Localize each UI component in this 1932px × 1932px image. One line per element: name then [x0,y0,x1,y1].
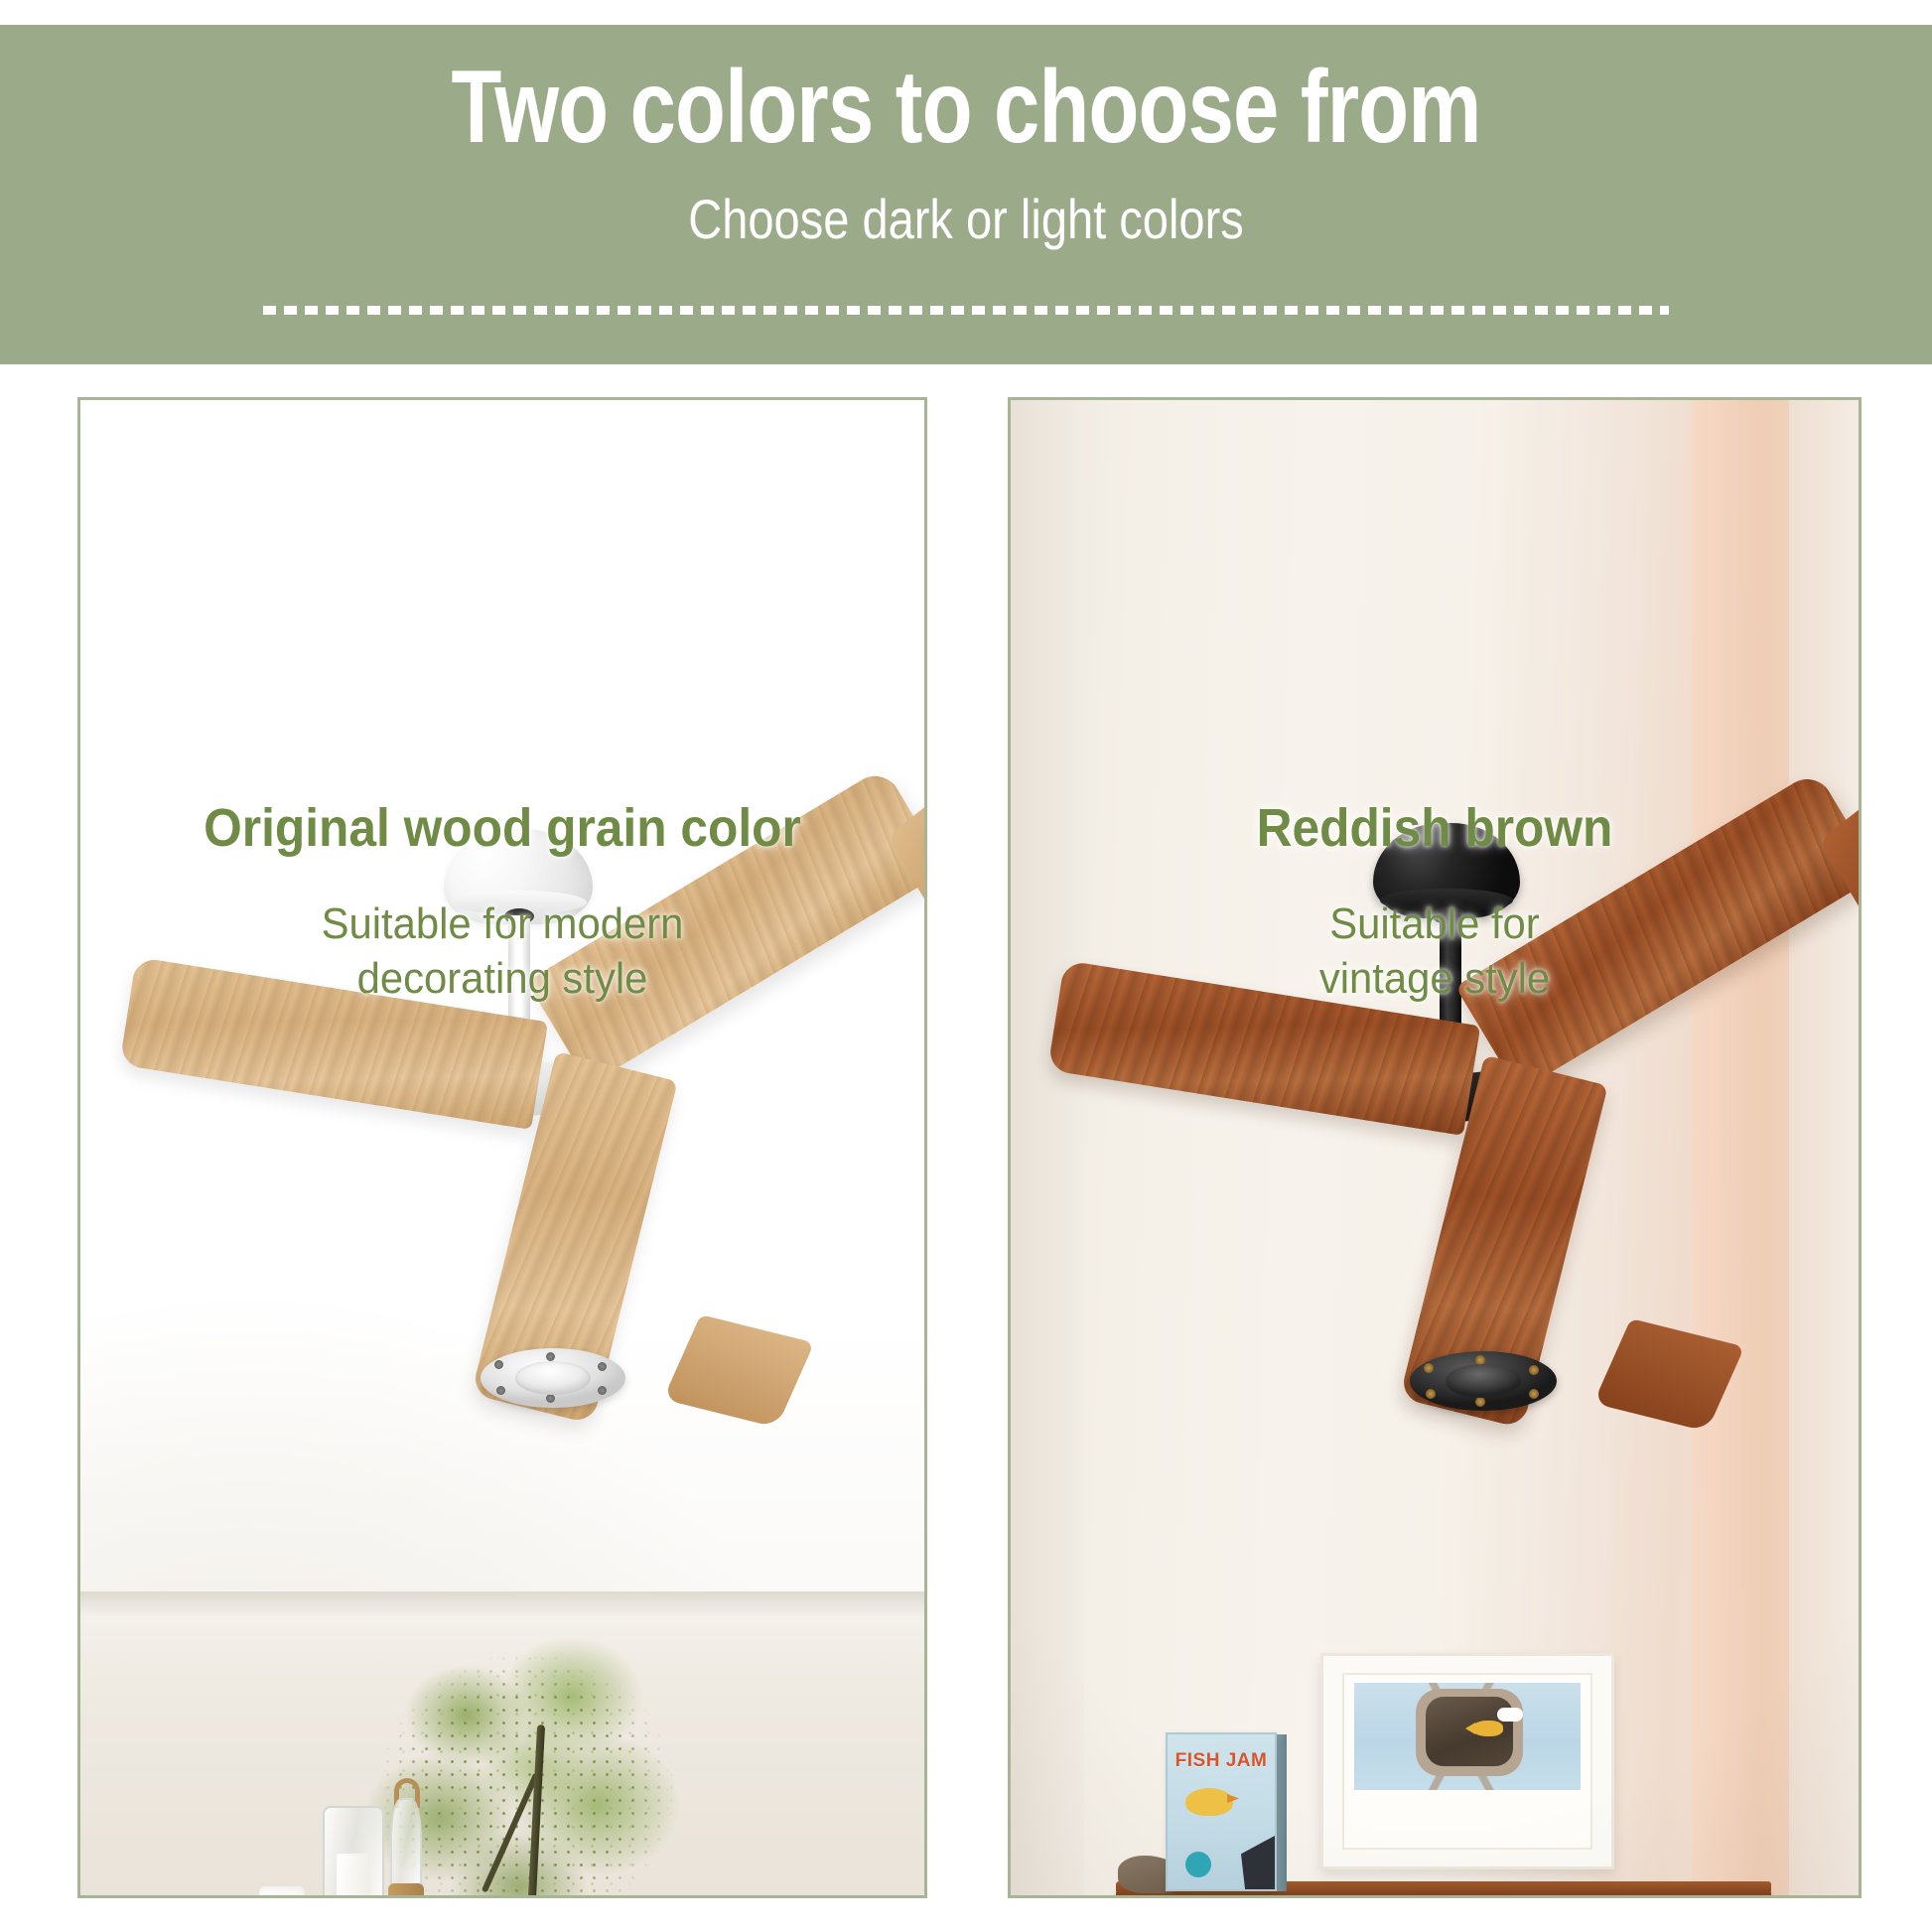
hub-screw [1529,1389,1539,1399]
hub-screw [494,1360,503,1369]
floor-shadow [80,1591,924,1617]
product-variant-card-right[interactable]: FISH JAM S SH S Reddish brown Suitable f… [1008,397,1862,1898]
page-subtitle: Choose dark or light colors [155,189,1778,250]
hub-screw [598,1386,607,1395]
picture-book-title: FISH JAM [1166,1750,1277,1772]
fan-blade-left [119,957,548,1130]
framed-print-speech-bubble [1497,1708,1523,1722]
wall-right-strip [1789,400,1859,1895]
oil-lamp-base [388,1883,424,1898]
framed-print-fish [1471,1721,1503,1736]
hub-screw [598,1362,607,1371]
fan-hub-cap [1446,1364,1521,1398]
pillar-candle [337,1854,370,1898]
product-variant-card-left[interactable]: Original wood grain color Suitable for m… [77,397,927,1898]
fan-hub-cap [515,1361,591,1395]
hub-screw [546,1394,555,1403]
fan-blade-left [1047,960,1480,1136]
wall-left-strip [1011,400,1084,1895]
fan-blade-upper-right [526,766,927,1085]
hub-screw [1475,1397,1485,1407]
hub-screw [1426,1389,1436,1399]
coffee-cup [259,1886,305,1898]
dashed-divider [263,306,1669,315]
oil-lamp-glass [390,1798,422,1897]
left-scene-photo [80,400,924,1895]
header-banner: Two colors to choose from Choose dark or… [0,25,1932,364]
fan-blade-lower-tip [663,1314,814,1428]
hub-screw [496,1386,505,1395]
hub-screw [1424,1363,1434,1373]
page-title: Two colors to choose from [194,53,1739,162]
picture-book-bird [1185,1788,1233,1816]
picture-book-award-badge [1185,1852,1211,1877]
hub-screw [1529,1365,1539,1375]
hub-screw [546,1352,555,1361]
